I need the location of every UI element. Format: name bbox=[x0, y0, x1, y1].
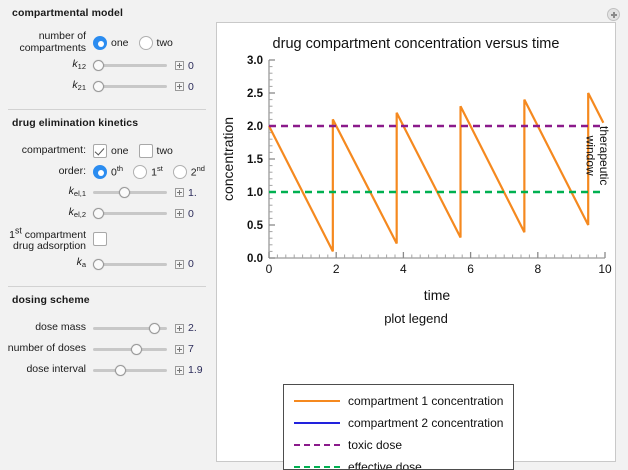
x-tick-label: 2 bbox=[333, 262, 340, 276]
row-kel2: kel,2 0 bbox=[0, 204, 214, 223]
expander-ka[interactable] bbox=[175, 260, 184, 269]
label-k21: k21 bbox=[0, 80, 93, 94]
checkbox-compartment-one[interactable] bbox=[93, 144, 107, 158]
adsorption-l1-rest: compartment bbox=[22, 229, 86, 241]
adsorption-l1-sup: st bbox=[15, 225, 22, 235]
therapeutic-annotation: therapeutic bbox=[597, 126, 611, 185]
section-title-dosing-scheme: dosing scheme bbox=[0, 287, 214, 310]
label-compartments-line1: number of bbox=[39, 30, 86, 42]
row-ka: ka 0 bbox=[0, 255, 214, 274]
label-dose-mass: dose mass bbox=[0, 322, 93, 334]
value-k12[interactable]: 0 bbox=[188, 60, 194, 72]
radio-label-order-zeroth: 0th bbox=[111, 164, 123, 179]
checkbox-label-compartment-two: two bbox=[157, 145, 173, 157]
legend-effective-dose-swatch bbox=[294, 466, 340, 468]
expander-kel1[interactable] bbox=[175, 188, 184, 197]
label-compartment: compartment: bbox=[0, 145, 93, 157]
concentration-vs-time-plot: 0.00.51.01.52.02.53.00246810timeconcentr… bbox=[217, 52, 617, 307]
y-axis-label: concentration bbox=[220, 117, 236, 201]
legend-title: plot legend bbox=[217, 311, 615, 326]
radio-order-zeroth[interactable] bbox=[93, 165, 107, 179]
y-tick-label: 2.5 bbox=[247, 88, 264, 100]
window-annotation: window bbox=[584, 135, 598, 176]
expander-k12[interactable] bbox=[175, 61, 184, 70]
series-compartment-1-concentration bbox=[269, 93, 603, 251]
row-dose-interval: dose interval 1.9 bbox=[0, 361, 214, 380]
slider-k12[interactable] bbox=[93, 59, 167, 73]
legend-effective-dose-label: effective dose bbox=[348, 460, 422, 470]
value-number-of-doses[interactable]: 7 bbox=[188, 343, 194, 355]
order-0-sup: th bbox=[117, 164, 123, 173]
section-title-compartmental-model: compartmental model bbox=[0, 0, 214, 23]
label-dose-interval: dose interval bbox=[0, 364, 93, 376]
legend-toxic-dose-swatch bbox=[294, 444, 340, 446]
row-k21: k21 0 bbox=[0, 77, 214, 96]
checkbox-compartment-two[interactable] bbox=[139, 144, 153, 158]
radio-label-order-second: 2nd bbox=[191, 164, 205, 179]
value-k21[interactable]: 0 bbox=[188, 81, 194, 93]
slider-k21-knob[interactable] bbox=[93, 81, 104, 92]
slider-kel2-knob[interactable] bbox=[93, 208, 104, 219]
label-k12: k12 bbox=[0, 59, 93, 73]
slider-dose-mass-knob[interactable] bbox=[149, 323, 160, 334]
row-k12: k12 0 bbox=[0, 56, 214, 75]
y-tick-label: 2.0 bbox=[247, 121, 263, 133]
slider-ka-track bbox=[93, 263, 167, 266]
row-number-of-compartments: number of compartments one two bbox=[0, 31, 214, 54]
label-k12-sub: 12 bbox=[78, 62, 86, 71]
value-kel1[interactable]: 1. bbox=[188, 187, 197, 199]
label-kel2: kel,2 bbox=[0, 207, 93, 221]
plot-area: 0.00.51.01.52.02.53.00246810timeconcentr… bbox=[217, 52, 617, 307]
slider-k21-track bbox=[93, 85, 167, 88]
slider-k12-track bbox=[93, 64, 167, 67]
control-panel: compartmental model number of compartmen… bbox=[0, 0, 214, 470]
expander-kel2[interactable] bbox=[175, 209, 184, 218]
slider-dose-interval-track bbox=[93, 369, 167, 372]
expander-k21[interactable] bbox=[175, 82, 184, 91]
radio-order-second[interactable] bbox=[173, 165, 187, 179]
slider-dose-mass[interactable] bbox=[93, 321, 167, 335]
label-drug-adsorption: 1st compartment drug adsorption bbox=[0, 225, 93, 253]
checkbox-drug-adsorption[interactable] bbox=[93, 232, 107, 246]
legend-compartment-1: compartment 1 concentration bbox=[284, 392, 513, 410]
radio-label-compartments-two: two bbox=[157, 37, 173, 49]
expander-dose-mass[interactable] bbox=[175, 324, 184, 333]
row-order: order: 0th 1st 2nd bbox=[0, 162, 214, 181]
slider-kel1[interactable] bbox=[93, 186, 167, 200]
value-dose-mass[interactable]: 2. bbox=[188, 322, 197, 334]
y-tick-label: 1.5 bbox=[247, 154, 264, 166]
slider-ka-knob[interactable] bbox=[93, 259, 104, 270]
label-number-of-compartments: number of compartments bbox=[0, 31, 93, 54]
label-number-of-doses: number of doses bbox=[0, 343, 93, 355]
x-tick-label: 4 bbox=[400, 262, 407, 276]
row-compartment-checkboxes: compartment: one two bbox=[0, 141, 214, 160]
label-order: order: bbox=[0, 166, 93, 178]
slider-dose-interval[interactable] bbox=[93, 363, 167, 377]
label-k21-sub: 21 bbox=[78, 83, 86, 92]
legend-toxic-dose: toxic dose bbox=[284, 436, 513, 454]
label-compartments-line2: compartments bbox=[19, 42, 86, 54]
value-kel2[interactable]: 0 bbox=[188, 208, 194, 220]
row-dose-mass: dose mass 2. bbox=[0, 319, 214, 338]
slider-kel2-track bbox=[93, 212, 167, 215]
legend-effective-dose: effective dose bbox=[284, 458, 513, 470]
x-axis-label: time bbox=[424, 287, 451, 303]
legend-compartment-2-label: compartment 2 concentration bbox=[348, 416, 503, 430]
output-panel: drug compartment concentration versus ti… bbox=[216, 22, 616, 462]
plus-circle-icon[interactable] bbox=[607, 8, 620, 21]
row-kel1: kel,1 1. bbox=[0, 183, 214, 202]
x-tick-label: 10 bbox=[598, 262, 612, 276]
slider-number-of-doses-track bbox=[93, 348, 167, 351]
plot-legend: compartment 1 concentrationcompartment 2… bbox=[283, 384, 514, 470]
label-ka-sub: a bbox=[82, 260, 86, 269]
row-number-of-doses: number of doses 7 bbox=[0, 340, 214, 359]
x-tick-label: 6 bbox=[467, 262, 474, 276]
radio-label-compartments-one: one bbox=[111, 37, 129, 49]
label-ka: ka bbox=[0, 257, 93, 271]
slider-k21[interactable] bbox=[93, 80, 167, 94]
legend-compartment-1-label: compartment 1 concentration bbox=[348, 394, 503, 408]
x-tick-label: 0 bbox=[266, 262, 273, 276]
slider-number-of-doses-knob[interactable] bbox=[131, 344, 142, 355]
label-kel2-sub: el,2 bbox=[74, 210, 86, 219]
section-title-drug-elimination-kinetics: drug elimination kinetics bbox=[0, 110, 214, 133]
legend-compartment-2-swatch bbox=[294, 422, 340, 424]
y-tick-label: 0.0 bbox=[247, 253, 263, 265]
radio-compartments-two[interactable] bbox=[139, 36, 153, 50]
chart-title: drug compartment concentration versus ti… bbox=[217, 23, 615, 52]
checkbox-label-compartment-one: one bbox=[111, 145, 129, 157]
value-dose-interval[interactable]: 1.9 bbox=[188, 364, 203, 376]
slider-ka[interactable] bbox=[93, 257, 167, 271]
radio-label-order-first: 1st bbox=[151, 164, 163, 179]
radio-order-first[interactable] bbox=[133, 165, 147, 179]
slider-number-of-doses[interactable] bbox=[93, 342, 167, 356]
label-kel1: kel,1 bbox=[0, 186, 93, 200]
slider-kel1-track bbox=[93, 191, 167, 194]
legend-toxic-dose-label: toxic dose bbox=[348, 438, 402, 452]
x-tick-label: 8 bbox=[534, 262, 541, 276]
radio-compartments-one[interactable] bbox=[93, 36, 107, 50]
legend-compartment-2: compartment 2 concentration bbox=[284, 414, 513, 432]
slider-dose-interval-knob[interactable] bbox=[115, 365, 126, 376]
adsorption-line2: drug adsorption bbox=[13, 240, 86, 252]
adsorption-line1: 1st compartment bbox=[9, 229, 86, 241]
slider-kel2[interactable] bbox=[93, 207, 167, 221]
expander-number-of-doses[interactable] bbox=[175, 345, 184, 354]
y-tick-label: 1.0 bbox=[247, 187, 263, 199]
manipulate-app: compartmental model number of compartmen… bbox=[0, 0, 628, 470]
slider-kel1-knob[interactable] bbox=[119, 187, 130, 198]
label-kel1-sub: el,1 bbox=[74, 189, 86, 198]
y-tick-label: 3.0 bbox=[247, 55, 263, 67]
y-tick-label: 0.5 bbox=[247, 220, 264, 232]
order-1-sup: st bbox=[157, 164, 163, 173]
row-drug-adsorption: 1st compartment drug adsorption bbox=[0, 225, 214, 253]
legend-compartment-1-swatch bbox=[294, 400, 340, 402]
expander-dose-interval[interactable] bbox=[175, 366, 184, 375]
slider-k12-knob[interactable] bbox=[93, 60, 104, 71]
value-ka[interactable]: 0 bbox=[188, 258, 194, 270]
order-2-sup: nd bbox=[197, 164, 205, 173]
